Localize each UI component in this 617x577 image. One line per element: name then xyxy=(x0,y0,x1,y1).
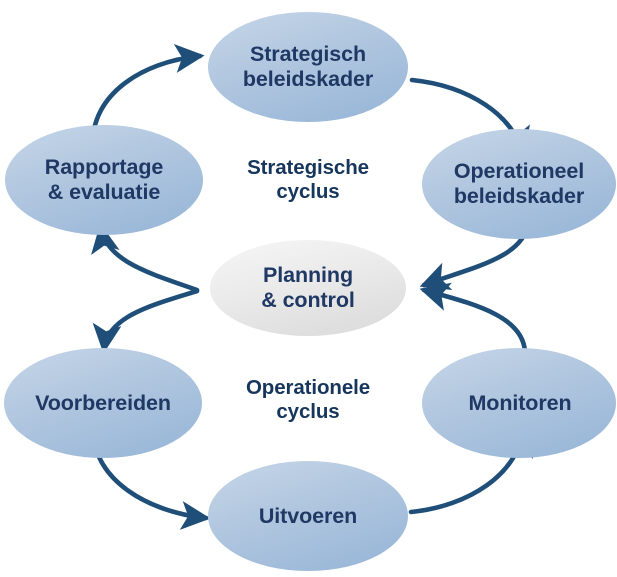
ellipse-uitvoeren[interactable] xyxy=(208,461,408,571)
arrow-planning-to-voorbereiden xyxy=(104,291,197,349)
ellipse-strategisch-beleidskader[interactable] xyxy=(208,12,408,122)
pdca-cycle-diagram: Strategisch beleidskader Operationeel be… xyxy=(0,0,617,577)
diagram-canvas xyxy=(0,0,617,577)
ellipse-voorbereiden[interactable] xyxy=(4,348,202,458)
ellipse-monitoren[interactable] xyxy=(422,348,616,458)
ellipse-operationeel-beleidskader[interactable] xyxy=(422,129,616,239)
arrow-planning-to-rapportage xyxy=(101,228,197,290)
ellipse-rapportage-evaluatie[interactable] xyxy=(5,125,203,235)
arrow-monitoren-to-planning xyxy=(424,290,525,352)
ellipse-planning-control[interactable] xyxy=(210,240,406,336)
